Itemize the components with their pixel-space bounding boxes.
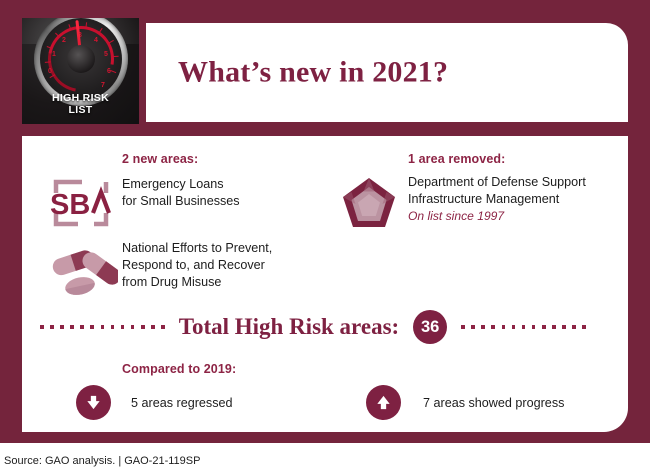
gauge-face: 0 1 2 3 4 5 6 7 bbox=[40, 18, 122, 100]
list-item-line: Respond to, and Recover bbox=[122, 257, 272, 274]
list-item-line: for Small Businesses bbox=[122, 193, 240, 210]
arrow-down-icon bbox=[76, 385, 111, 420]
comparison-heading: Compared to 2019: bbox=[122, 362, 236, 376]
list-item-line: National Efforts to Prevent, bbox=[122, 240, 272, 257]
regressed-block: 5 areas regressed bbox=[76, 385, 233, 420]
total-high-risk-row: Total High Risk areas: 36 bbox=[40, 310, 610, 344]
badge-label-line2: LIST bbox=[22, 105, 139, 117]
infographic-panel: 0 1 2 3 4 5 6 7 HIGH RISK LIST What’s ne… bbox=[0, 0, 650, 443]
list-item-line: from Drug Misuse bbox=[122, 274, 272, 291]
dotted-rule-right bbox=[461, 325, 586, 329]
removed-areas-heading: 1 area removed: bbox=[408, 152, 505, 166]
gauge-tick bbox=[112, 56, 118, 58]
source-note: Source: GAO analysis. | GAO-21-119SP bbox=[4, 455, 200, 467]
pentagon-icon bbox=[330, 174, 408, 232]
gauge-tick-label: 6 bbox=[107, 68, 111, 75]
high-risk-list-badge: 0 1 2 3 4 5 6 7 HIGH RISK LIST bbox=[22, 18, 139, 124]
list-item-text: Department of Defense Support Infrastruc… bbox=[408, 174, 586, 224]
new-areas-heading: 2 new areas: bbox=[122, 152, 198, 166]
arrow-up-icon bbox=[366, 385, 401, 420]
list-item: Department of Defense Support Infrastruc… bbox=[330, 174, 586, 232]
progress-text: 7 areas showed progress bbox=[423, 396, 564, 410]
gauge-tick-label: 7 bbox=[101, 82, 105, 89]
regressed-text: 5 areas regressed bbox=[131, 396, 233, 410]
content-card: 2 new areas: SB bbox=[22, 136, 628, 432]
list-item-line: Emergency Loans bbox=[122, 176, 240, 193]
list-item-line: Department of Defense Support bbox=[408, 174, 586, 191]
gauge-tick bbox=[85, 22, 87, 28]
gauge-tick-label: 2 bbox=[62, 37, 66, 44]
total-count-badge: 36 bbox=[413, 310, 447, 344]
progress-block: 7 areas showed progress bbox=[366, 385, 564, 420]
dotted-rule-left bbox=[40, 325, 165, 329]
list-item-line: Infrastructure Management bbox=[408, 191, 586, 208]
list-item-text: National Efforts to Prevent, Respond to,… bbox=[122, 240, 272, 291]
page-title: What’s new in 2021? bbox=[178, 55, 448, 89]
gauge-tick-label: 5 bbox=[104, 51, 108, 58]
list-item: SB Emergency Loans for Small Businesses bbox=[40, 176, 240, 230]
list-item-text: Emergency Loans for Small Businesses bbox=[122, 176, 240, 210]
gauge-tick-label: 4 bbox=[94, 37, 98, 44]
list-item-note: On list since 1997 bbox=[408, 208, 586, 224]
svg-text:SB: SB bbox=[50, 189, 90, 221]
total-label: Total High Risk areas: bbox=[179, 314, 399, 340]
gauge-tick-label: 1 bbox=[52, 51, 56, 58]
gauge-tick-label: 0 bbox=[48, 68, 52, 75]
badge-label: HIGH RISK LIST bbox=[22, 93, 139, 116]
header-card: What’s new in 2021? bbox=[146, 23, 628, 122]
badge-label-line1: HIGH RISK bbox=[22, 93, 139, 105]
pills-icon bbox=[40, 240, 122, 298]
list-item: National Efforts to Prevent, Respond to,… bbox=[40, 240, 272, 298]
gauge-hub bbox=[67, 45, 95, 73]
sba-logo-icon: SB bbox=[40, 176, 122, 230]
